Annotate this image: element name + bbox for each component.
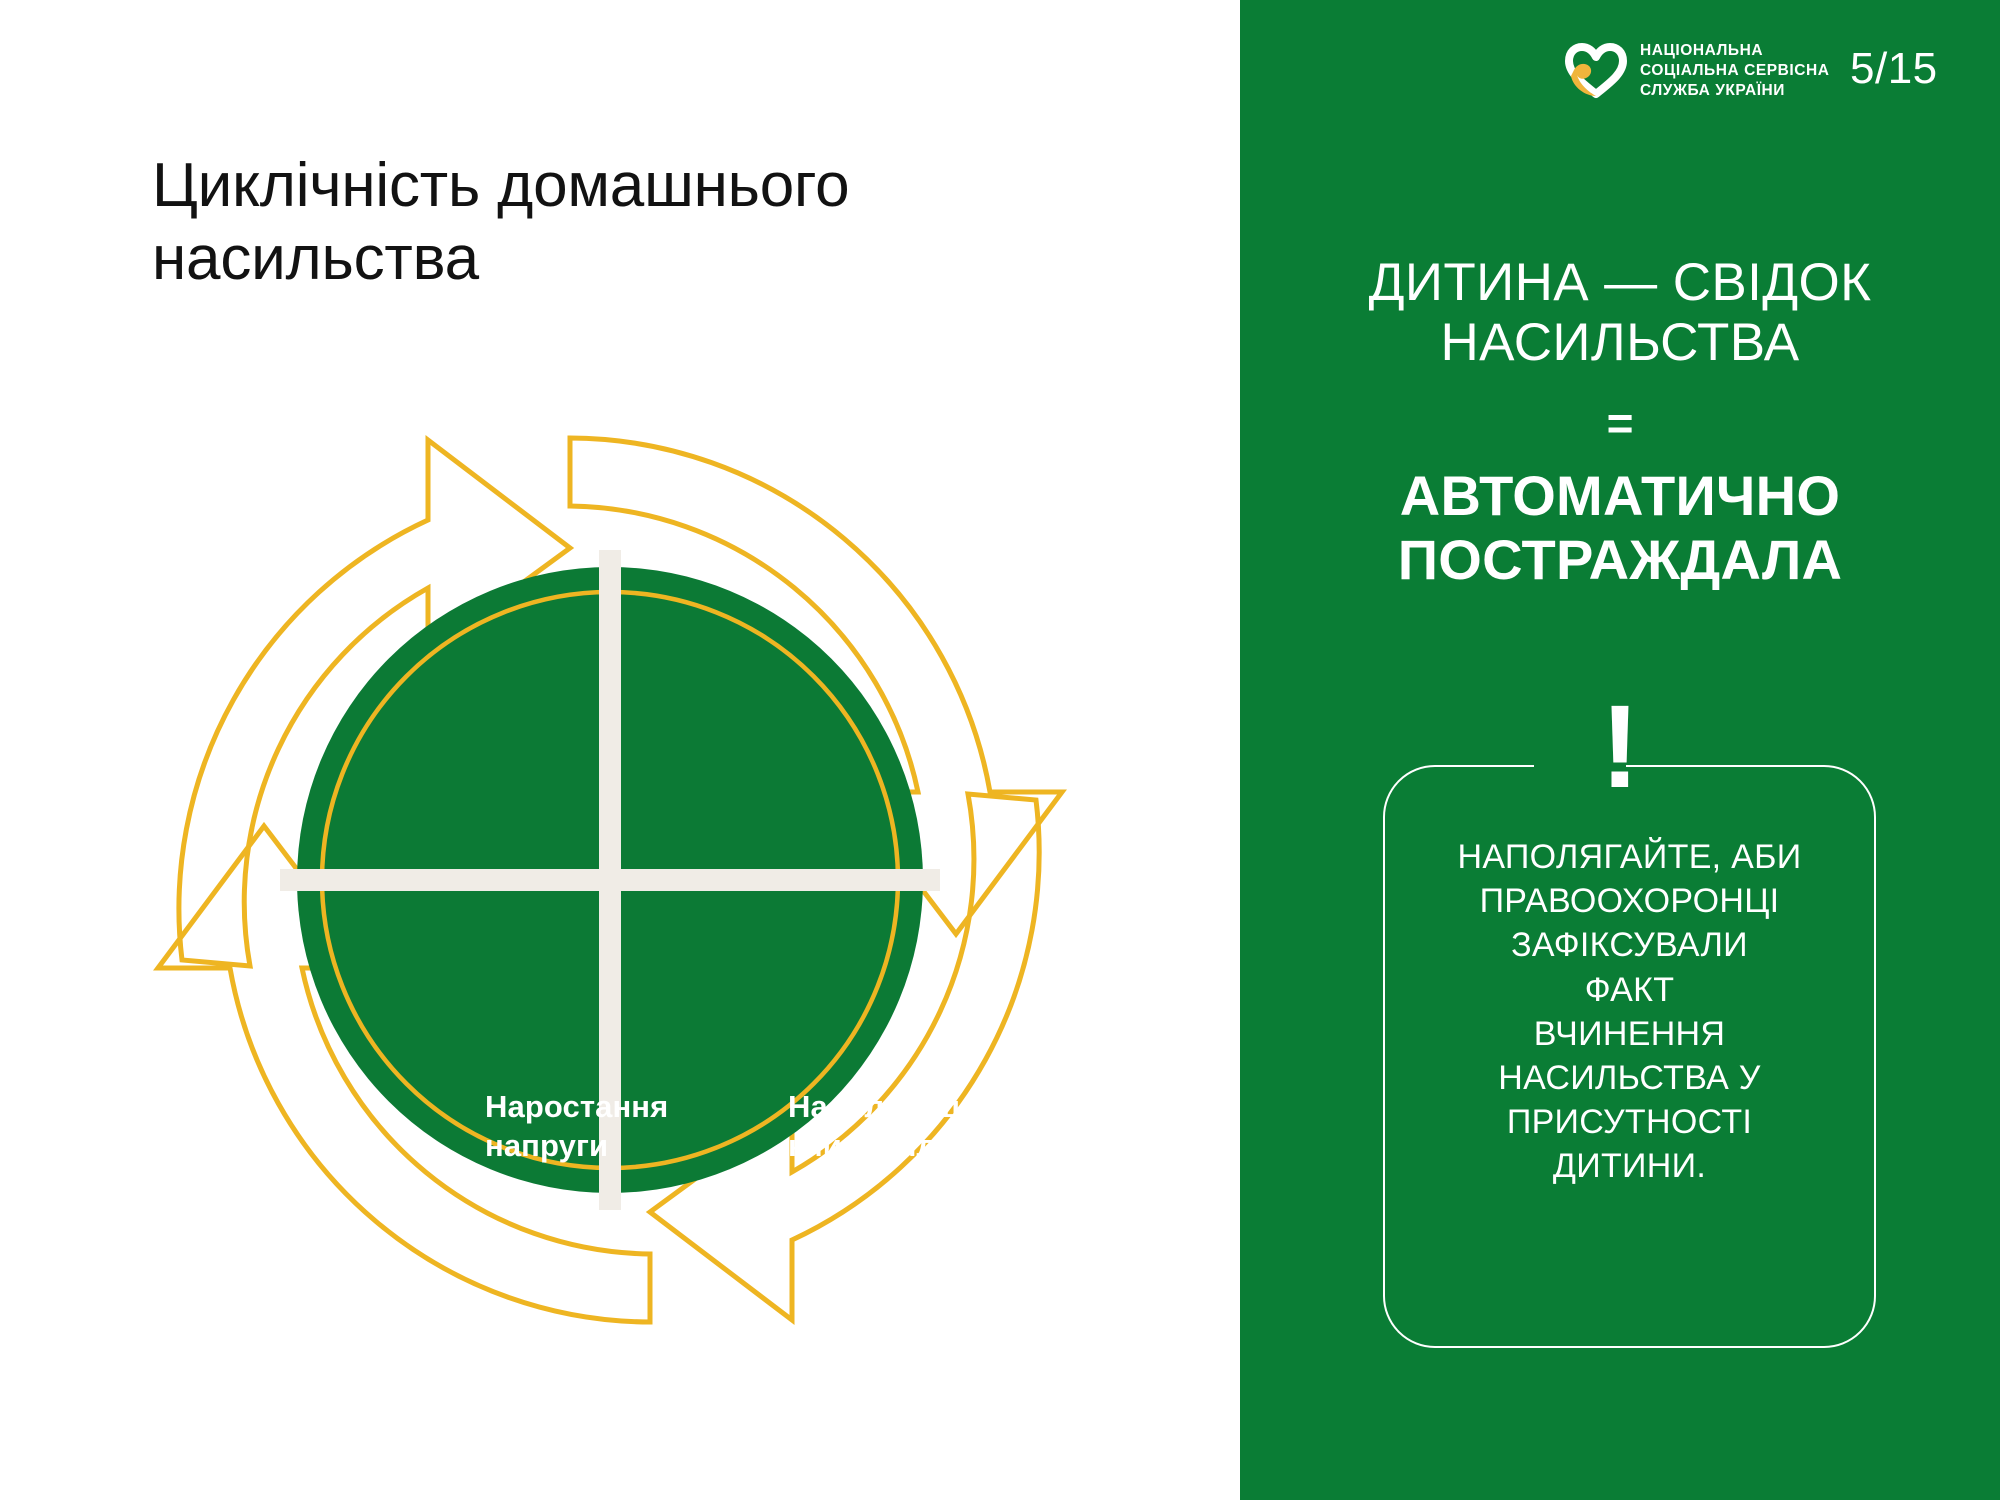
page-title: Циклічність домашнього насильства [152, 150, 1152, 295]
headline: ДИТИНА — СВІДОК НАСИЛЬСТВА [1260, 253, 1980, 374]
exclamation-mark-icon: ! [1260, 688, 1980, 806]
left-content-pane: Циклічність домашнього насильства [0, 0, 1240, 1500]
brand-name: НАЦІОНАЛЬНА СОЦІАЛЬНА СЕРВІСНА СЛУЖБА УК… [1640, 41, 1829, 101]
quadrant-divider-horizontal [280, 869, 940, 891]
quadrant-label-reconciliation: Примирення [788, 1325, 1078, 1364]
quadrant-label-violent-incident: Насильниць- кий інцидент [788, 1087, 1078, 1165]
equals-sign: = [1260, 400, 1980, 446]
quadrant-label-honeymoon: Медовий місяць [485, 1325, 735, 1403]
subheadline: АВТОМАТИЧНО ПОСТРАЖДАЛА [1260, 464, 1980, 592]
violence-cycle-diagram: Наростання напруги Насильниць- кий інцид… [140, 400, 1080, 1360]
brand-lockup: НАЦІОНАЛЬНА СОЦІАЛЬНА СЕРВІСНА СЛУЖБА УК… [1565, 40, 1829, 102]
callout-text: НАПОЛЯГАЙТЕ, АБИ ПРАВООХОРОНЦІ ЗАФІКСУВА… [1383, 835, 1876, 1189]
right-green-pane: НАЦІОНАЛЬНА СОЦІАЛЬНА СЕРВІСНА СЛУЖБА УК… [1240, 0, 2000, 1500]
heart-leaf-logo-icon [1565, 40, 1627, 102]
quadrant-label-tension-building: Наростання напруги [485, 1087, 735, 1165]
cycle-diagram-svg [140, 400, 1080, 1360]
slide-root: Циклічність домашнього насильства [0, 0, 2000, 1500]
page-number: 5/15 [1850, 44, 1938, 94]
